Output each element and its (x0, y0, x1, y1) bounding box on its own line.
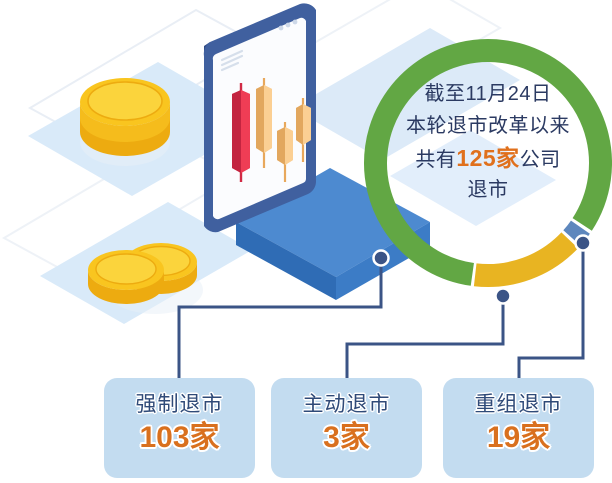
callout-card-forced: 强制退市 103家 (104, 378, 255, 478)
connector-line-voluntary (347, 299, 503, 378)
callout-card-restructuring-value: 19家 (443, 420, 594, 456)
connector-dot-voluntary (496, 289, 511, 304)
callout-card-voluntary: 主动退市 3家 (271, 378, 422, 478)
infographic-canvas: 截至11月24日 本轮退市改革以来 共有125家公司 退市 强制退市 103家 … (0, 0, 612, 483)
callout-card-voluntary-label: 主动退市 (271, 392, 422, 418)
connector-line-forced (179, 261, 381, 378)
connector-dots (374, 236, 591, 304)
callout-card-forced-value: 103家 (104, 420, 255, 456)
callout-card-voluntary-value: 3家 (271, 420, 422, 456)
connector-dot-restructuring (576, 236, 591, 251)
connector-line-restructuring (519, 246, 583, 378)
connector-dot-forced (374, 251, 389, 266)
callout-card-restructuring: 重组退市 19家 (443, 378, 594, 478)
callout-card-forced-label: 强制退市 (104, 392, 255, 418)
callout-card-restructuring-label: 重组退市 (443, 392, 594, 418)
